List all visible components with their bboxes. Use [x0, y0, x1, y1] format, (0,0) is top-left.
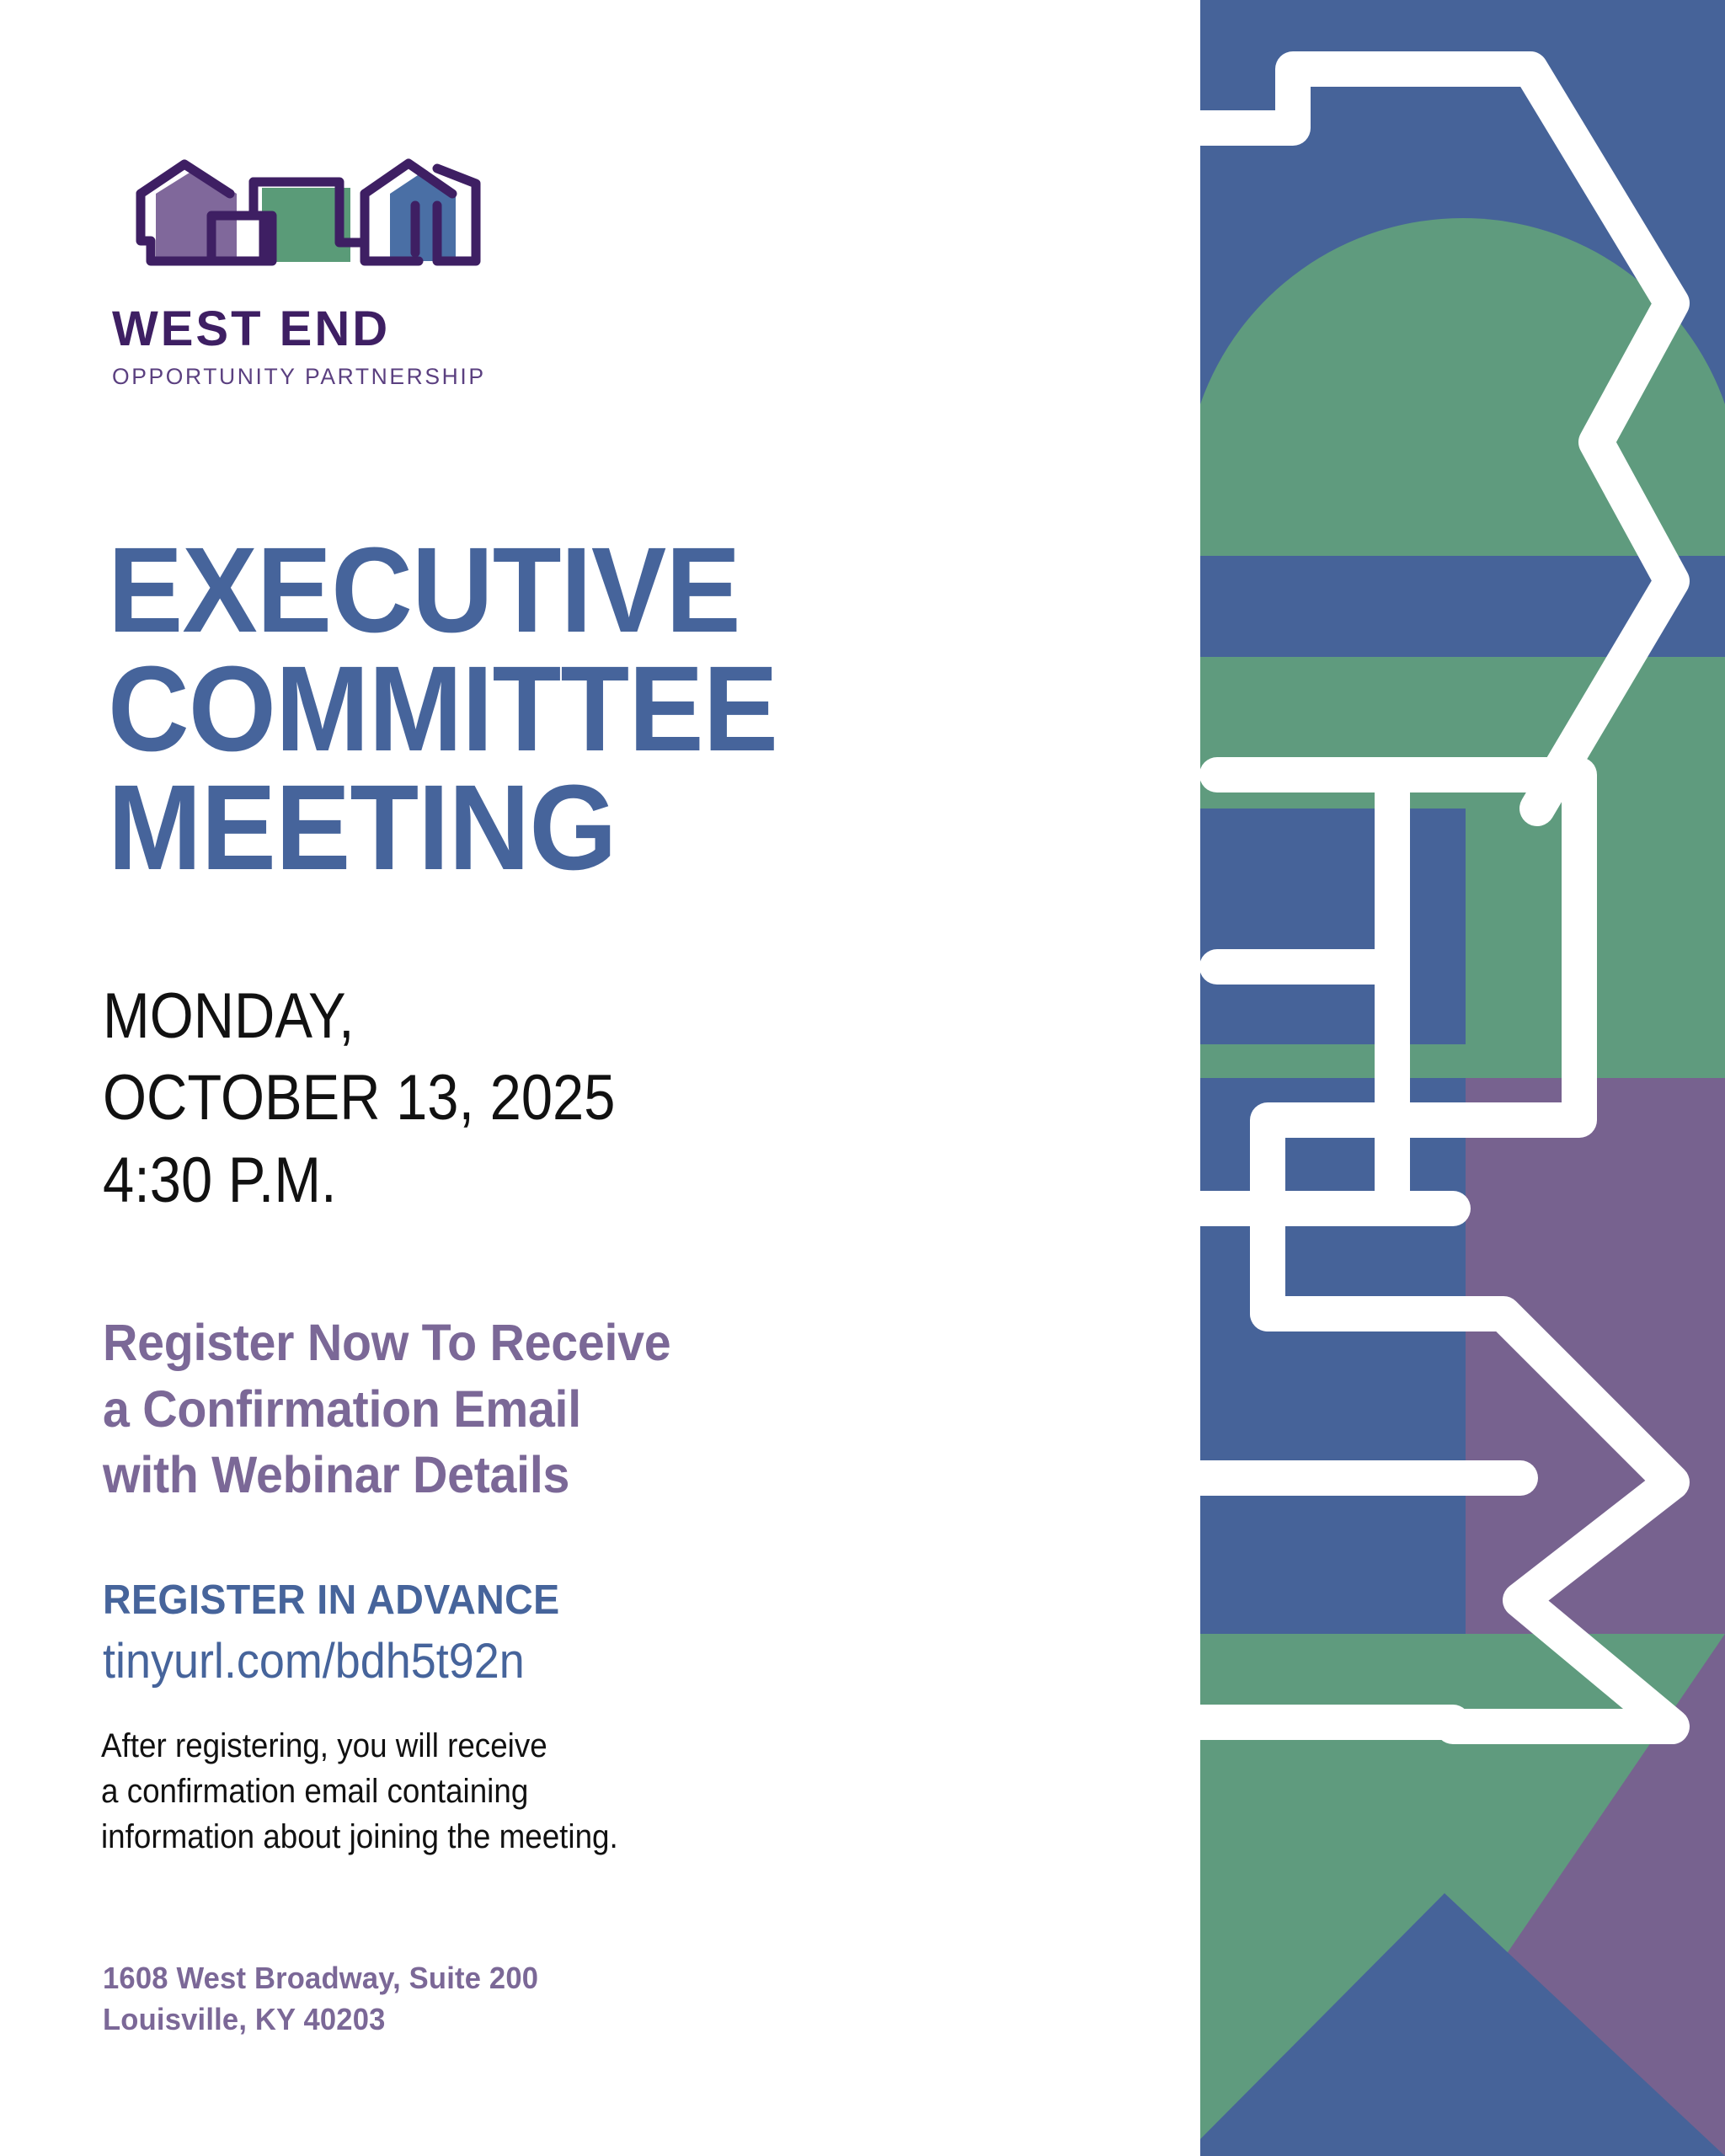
event-datetime: MONDAY, OCTOBER 13, 2025 4:30 P.M. — [103, 975, 844, 1221]
headline-line-3: MEETING — [108, 768, 1095, 887]
content-column: WEST END OPPORTUNITY PARTNERSHIP EXECUTI… — [0, 0, 1200, 2156]
register-in-advance-heading: REGISTER IN ADVANCE — [103, 1580, 560, 1621]
registration-url-link[interactable]: tinyurl.com/bdh5t92n — [103, 1637, 525, 1686]
fineprint-line-3: information about joining the meeting. — [101, 1814, 798, 1860]
event-time: 4:30 P.M. — [103, 1139, 844, 1221]
event-day: MONDAY, — [103, 975, 844, 1057]
abstract-geometric-panel — [1200, 0, 1725, 2156]
address-line-1: 1608 West Broadway, Suite 200 — [103, 1958, 538, 1999]
logo-block: WEST END OPPORTUNITY PARTNERSHIP — [112, 150, 550, 388]
callout-line-2: a Confirmation Email — [103, 1376, 934, 1443]
organization-address: 1608 West Broadway, Suite 200 Louisville… — [103, 1958, 538, 2041]
headline-line-2: COMMITTEE — [108, 649, 1095, 768]
registration-fineprint: After registering, you will receive a co… — [101, 1723, 798, 1860]
page-title: EXECUTIVE COMMITTEE MEETING — [108, 531, 1095, 887]
poster-flyer: WEST END OPPORTUNITY PARTNERSHIP EXECUTI… — [0, 0, 1725, 2156]
address-line-2: Louisville, KY 40203 — [103, 1999, 538, 2041]
fineprint-line-1: After registering, you will receive — [101, 1723, 798, 1769]
registration-callout: Register Now To Receive a Confirmation E… — [103, 1310, 934, 1508]
logo-wordmark: WEST END — [112, 305, 550, 354]
callout-line-3: with Webinar Details — [103, 1442, 934, 1508]
headline-line-1: EXECUTIVE — [108, 531, 1095, 649]
fineprint-line-2: a confirmation email containing — [101, 1769, 798, 1814]
event-date: OCTOBER 13, 2025 — [103, 1057, 844, 1139]
callout-line-1: Register Now To Receive — [103, 1310, 934, 1376]
geometric-artwork — [1200, 0, 1725, 2156]
logo-tagline: OPPORTUNITY PARTNERSHIP — [112, 366, 550, 388]
houses-skyline-icon — [112, 150, 516, 293]
